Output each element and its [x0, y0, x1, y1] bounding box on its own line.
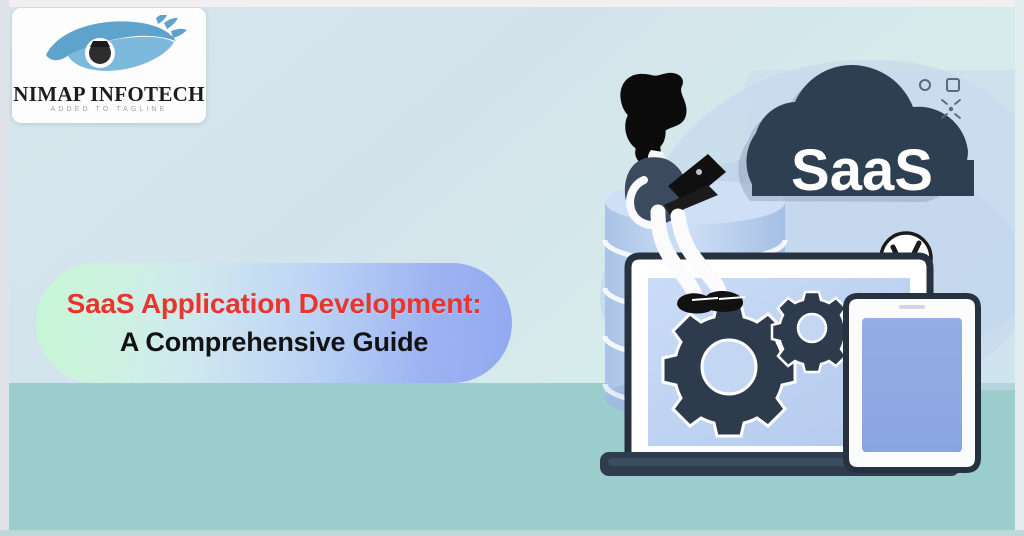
logo-tagline: ADDED TO TAGLINE [12, 106, 206, 113]
saas-banner: SaaS [0, 0, 1024, 536]
top-edge-strip [0, 0, 1024, 7]
company-logo-card[interactable]: NIMAP INFOTECH ADDED TO TAGLINE [12, 8, 206, 123]
headline-pill: SaaS Application Development: A Comprehe… [36, 263, 512, 383]
right-edge-strip [1015, 0, 1024, 536]
headline-line-1: SaaS Application Development: [67, 287, 482, 321]
left-edge-strip [0, 0, 9, 536]
eye-logo-icon [38, 15, 188, 77]
background-panel [745, 70, 1024, 390]
background-bottom-band [8, 383, 1016, 531]
logo-company-name: NIMAP INFOTECH [12, 82, 206, 107]
bottom-edge-strip [0, 530, 1024, 536]
headline-line-2: A Comprehensive Guide [120, 326, 428, 359]
